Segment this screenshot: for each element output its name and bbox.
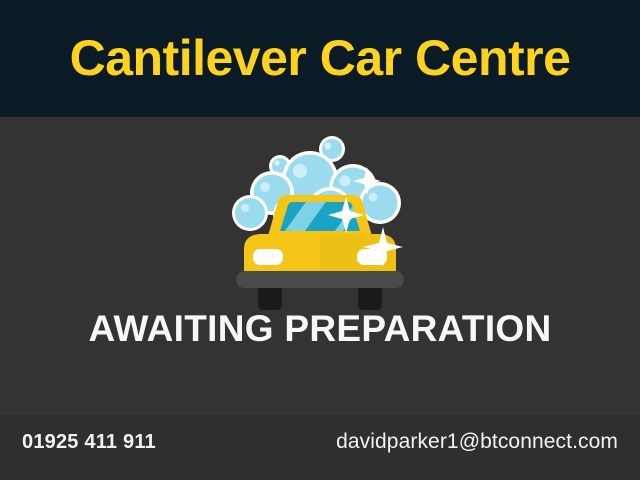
phone-number[interactable]: 01925 411 911 bbox=[22, 431, 156, 454]
car-wash-icon bbox=[220, 131, 420, 311]
status-badge: AWAITING PREPARATION bbox=[88, 310, 551, 347]
status-line: AWAITING PREPARATION bbox=[0, 310, 640, 347]
image-body-area: AWAITING PREPARATION bbox=[0, 117, 640, 413]
dealer-name-title: Cantilever Car Centre bbox=[70, 33, 571, 85]
contact-footer-band: 01925 411 911 davidparker1@btconnect.com bbox=[0, 413, 640, 480]
email-address[interactable]: davidparker1@btconnect.com bbox=[336, 430, 618, 454]
dealer-header-band: Cantilever Car Centre bbox=[0, 0, 640, 117]
vehicle-placeholder-image: Cantilever Car Centre bbox=[0, 0, 640, 480]
